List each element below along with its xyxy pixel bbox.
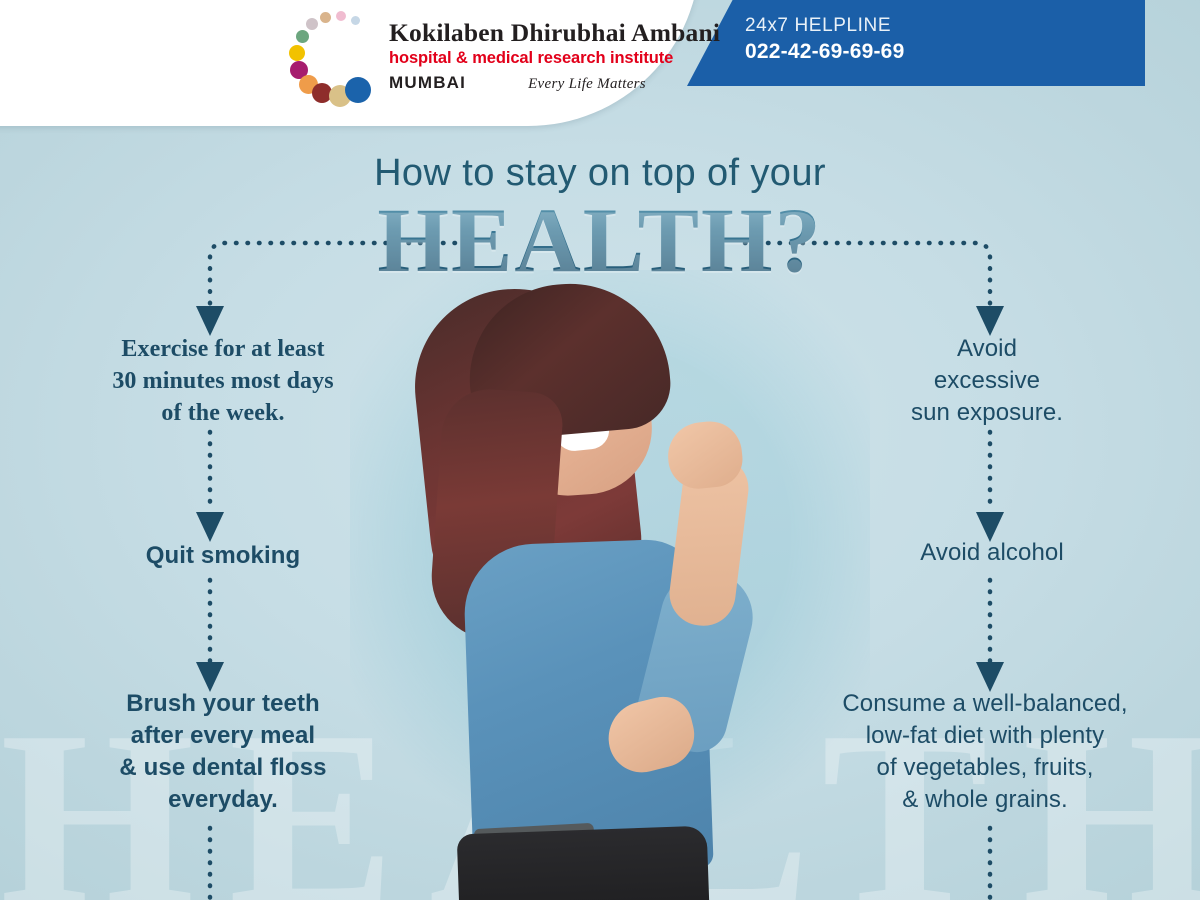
- tip-sun-exposure: Avoidexcessivesun exposure.: [862, 333, 1112, 429]
- tip-line: Avoid alcohol: [872, 537, 1112, 569]
- logo-dot: [296, 30, 309, 43]
- tip-line: sun exposure.: [862, 397, 1112, 429]
- helpline-label: 24x7 HELPLINE: [745, 14, 1145, 38]
- logo-dot: [306, 18, 318, 30]
- logo-dot: [336, 11, 346, 21]
- tip-line: everyday.: [68, 784, 378, 816]
- logo-dots-icon: [285, 4, 389, 108]
- tip-line: Avoid: [862, 333, 1112, 365]
- hero-photo: [350, 270, 870, 900]
- tip-line: of the week.: [58, 397, 388, 429]
- tip-diet: Consume a well-balanced,low-fat diet wit…: [800, 688, 1170, 817]
- tip-alcohol: Avoid alcohol: [872, 537, 1112, 569]
- tip-line: Exercise for at least: [58, 333, 388, 365]
- woman-figure: [350, 270, 870, 900]
- logo-dot: [320, 12, 331, 23]
- arrowhead-right-top: [976, 306, 1004, 336]
- headline-line-2: HEALTH?: [0, 192, 1200, 289]
- logo-dot: [289, 45, 305, 61]
- logo-subtitle: hospital & medical research institute: [389, 49, 669, 68]
- trousers-shape: [457, 826, 710, 900]
- logo-dot: [351, 16, 360, 25]
- tip-line: Brush your teeth: [68, 688, 378, 720]
- logo-tagline: Every Life Matters: [528, 76, 646, 93]
- tip-line: excessive: [862, 365, 1112, 397]
- infographic-poster: HEALTHY: [0, 0, 1200, 900]
- logo-dot: [345, 77, 371, 103]
- arrowhead-left-mid: [196, 512, 224, 542]
- tip-dental-care: Brush your teethafter every meal& use de…: [68, 688, 378, 817]
- helpline-banner[interactable]: 24x7 HELPLINE 022-42-69-69-69: [645, 0, 1145, 86]
- tip-quit-smoking: Quit smoking: [78, 540, 368, 572]
- logo-city: MUMBAI: [389, 73, 466, 93]
- tip-line: of vegetables, fruits,: [800, 752, 1170, 784]
- tip-line: after every meal: [68, 720, 378, 752]
- tip-line: low-fat diet with plenty: [800, 720, 1170, 752]
- tip-line: & use dental floss: [68, 752, 378, 784]
- hospital-logo[interactable]: Kokilaben Dhirubhai Ambani hospital & me…: [285, 4, 665, 116]
- tip-exercise: Exercise for at least30 minutes most day…: [58, 333, 388, 429]
- logo-text-block: Kokilaben Dhirubhai Ambani hospital & me…: [389, 20, 669, 93]
- tip-line: 30 minutes most days: [58, 365, 388, 397]
- tip-line: Quit smoking: [78, 540, 368, 572]
- tip-line: & whole grains.: [800, 784, 1170, 816]
- tip-line: Consume a well-balanced,: [800, 688, 1170, 720]
- arrowhead-left-top: [196, 306, 224, 336]
- logo-name: Kokilaben Dhirubhai Ambani: [389, 20, 669, 46]
- helpline-number[interactable]: 022-42-69-69-69: [745, 38, 1145, 65]
